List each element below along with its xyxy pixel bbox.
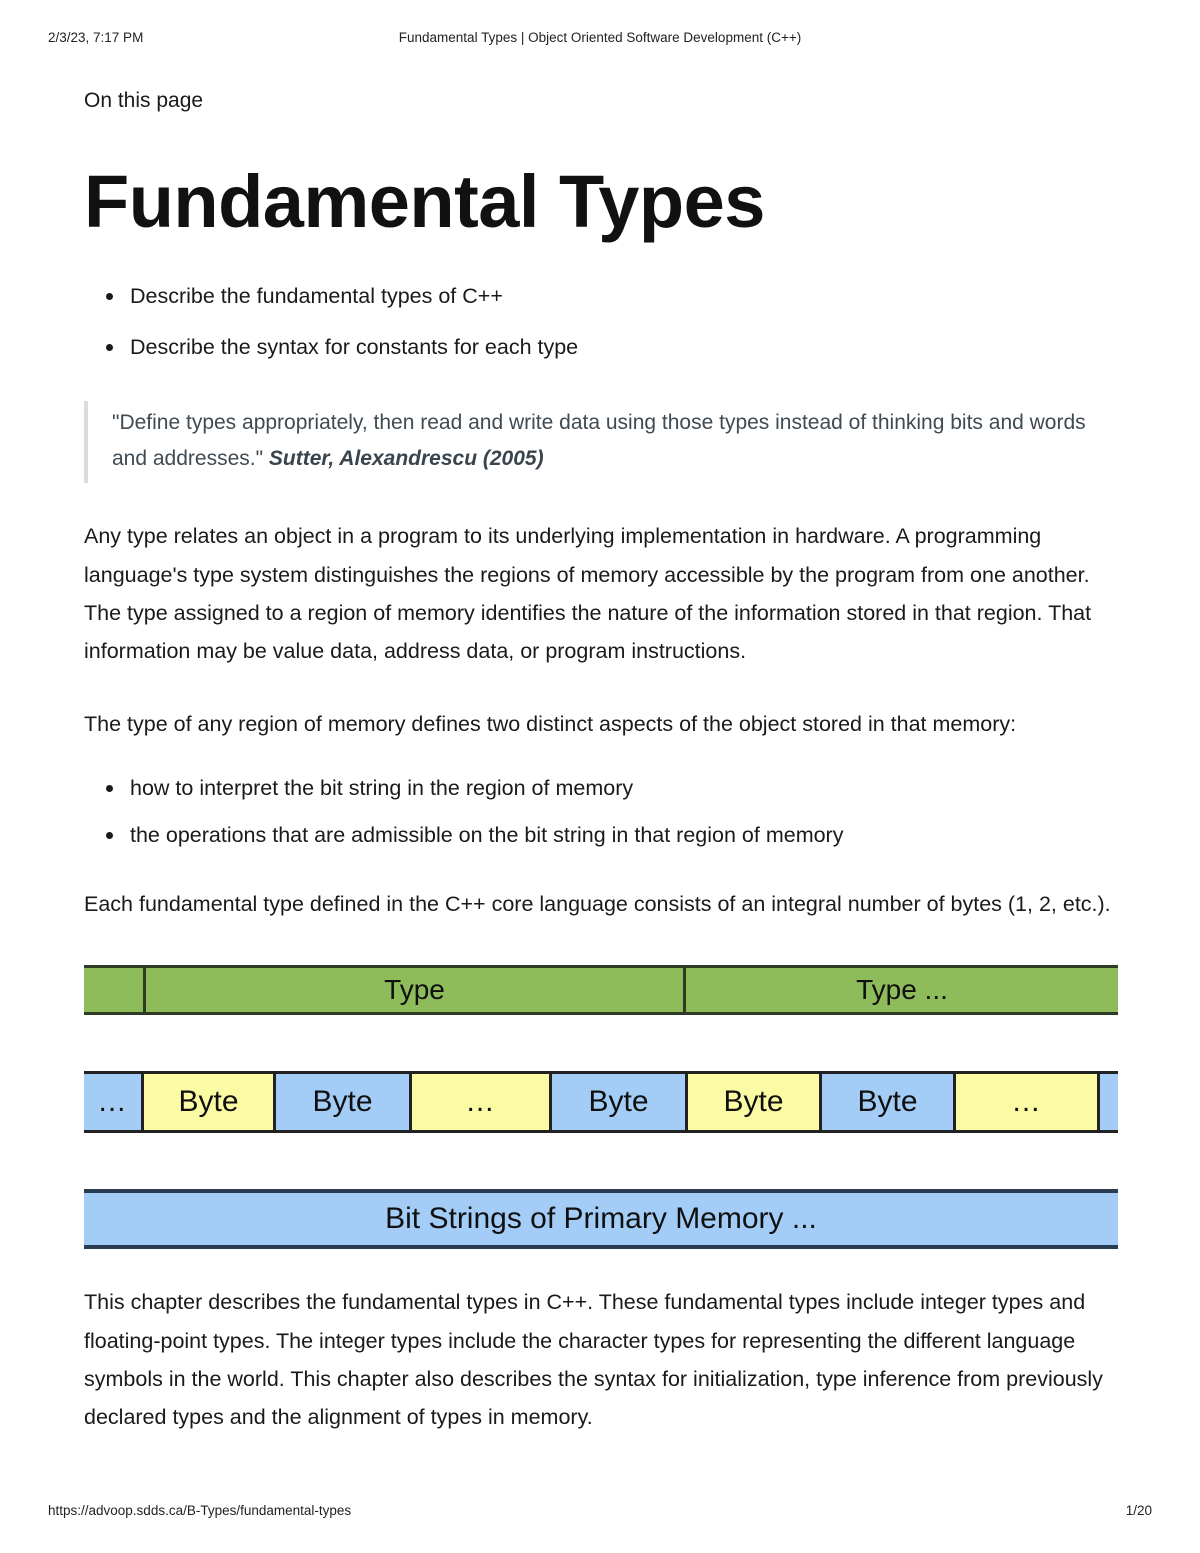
- diagram-type-row: Type Type ...: [84, 965, 1118, 1015]
- list-item: how to interpret the bit string in the r…: [84, 773, 1120, 804]
- byte-cell: Byte: [276, 1074, 412, 1130]
- byte-cell: Byte: [552, 1074, 688, 1130]
- quote-text: "Define types appropriately, then read a…: [112, 411, 1086, 470]
- diagram-byte-row: ... Byte Byte ... Byte Byte Byte ...: [84, 1071, 1118, 1133]
- on-this-page-label: On this page: [84, 88, 1120, 113]
- print-footer-page: 1/20: [1126, 1503, 1152, 1518]
- print-header: 2/3/23, 7:17 PM Fundamental Types | Obje…: [0, 30, 1200, 50]
- memory-layout-diagram: Type Type ... ... Byte Byte ... Byte Byt…: [84, 965, 1118, 1249]
- byte-cell: ...: [84, 1074, 144, 1130]
- list-item: Describe the syntax for constants for ea…: [84, 332, 1120, 363]
- diagram-memory-bar: Bit Strings of Primary Memory ...: [84, 1189, 1118, 1249]
- page-title: Fundamental Types: [84, 163, 1120, 241]
- byte-cell: ...: [412, 1074, 552, 1130]
- pull-quote: "Define types appropriately, then read a…: [84, 401, 1120, 483]
- document-content: On this page Fundamental Types Describe …: [84, 88, 1120, 1436]
- byte-cell: ...: [956, 1074, 1100, 1130]
- print-footer-url: https://advoop.sdds.ca/B-Types/fundament…: [48, 1503, 351, 1518]
- objectives-list: Describe the fundamental types of C++ De…: [84, 281, 1120, 363]
- type-cell-more: Type ...: [686, 965, 1118, 1015]
- print-footer: https://advoop.sdds.ca/B-Types/fundament…: [0, 1503, 1200, 1523]
- type-cell-stub: [84, 965, 146, 1015]
- list-item: Describe the fundamental types of C++: [84, 281, 1120, 312]
- paragraph-2: The type of any region of memory defines…: [84, 705, 1120, 743]
- quote-attribution: Sutter, Alexandrescu (2005): [269, 447, 544, 470]
- paragraph-4: This chapter describes the fundamental t…: [84, 1283, 1120, 1436]
- paragraph-3: Each fundamental type defined in the C++…: [84, 885, 1120, 923]
- byte-cell: Byte: [688, 1074, 822, 1130]
- aspects-list: how to interpret the bit string in the r…: [84, 773, 1120, 851]
- print-header-title: Fundamental Types | Object Oriented Soft…: [0, 30, 1200, 45]
- type-cell: Type: [146, 965, 686, 1015]
- byte-cell: [1100, 1074, 1118, 1130]
- byte-cell: Byte: [144, 1074, 276, 1130]
- paragraph-1: Any type relates an object in a program …: [84, 517, 1120, 670]
- byte-cell: Byte: [822, 1074, 956, 1130]
- list-item: the operations that are admissible on th…: [84, 820, 1120, 851]
